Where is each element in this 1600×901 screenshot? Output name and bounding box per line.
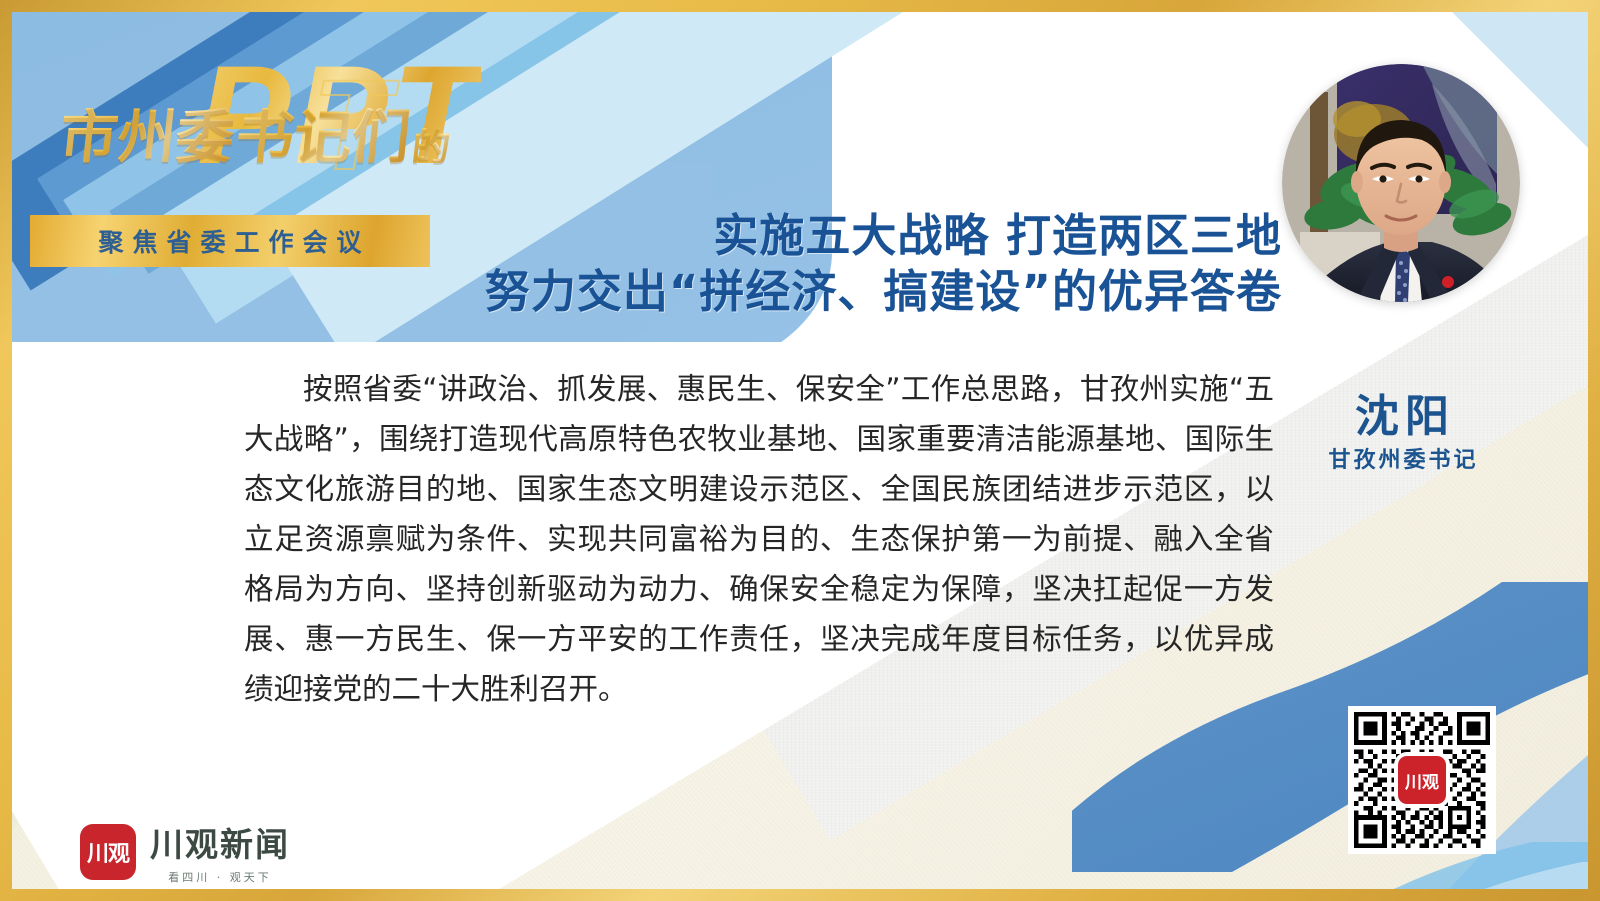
avatar	[1282, 64, 1520, 302]
brand-name: 川观新闻	[150, 818, 290, 866]
series-title-part3: 的	[410, 128, 452, 166]
series-title-part1: 市州委	[57, 108, 237, 166]
poster-inner-card: PPT T 市州委 书记们 的 聚焦省委工作会议 实施五大战略 打造两区三地 努…	[12, 12, 1588, 889]
brand-slogan: 看四川 · 观天下	[150, 869, 290, 885]
poster-canvas: PPT T 市州委 书记们 的 聚焦省委工作会议 实施五大战略 打造两区三地 努…	[0, 0, 1600, 901]
brand-text-group: 川观新闻 看四川 · 观天下	[150, 818, 290, 885]
headline-line-2: 努力交出“拼经济、搞建设”的优异答卷	[412, 264, 1282, 320]
page-title: 实施五大战略 打造两区三地 努力交出“拼经济、搞建设”的优异答卷	[412, 208, 1282, 321]
headline-line-1: 实施五大战略 打造两区三地	[412, 208, 1282, 264]
body-paragraph: 按照省委“讲政治、抓发展、惠民生、保安全”工作总思路，甘孜州实施“五大战略”，围…	[244, 364, 1274, 714]
qr-center-logo: 川观	[1398, 756, 1446, 804]
person-role: 甘孜州委书记	[1280, 442, 1524, 474]
subtitle-ribbon-text: 聚焦省委工作会议	[89, 223, 370, 259]
brand-mark-icon: 川观	[80, 824, 136, 880]
series-title-part2: 书记们	[233, 108, 413, 166]
person-name: 沈阳	[1280, 380, 1524, 444]
subtitle-ribbon: 聚焦省委工作会议	[30, 215, 430, 267]
brand-logo: 川观 川观新闻 看四川 · 观天下	[80, 818, 290, 885]
portrait-photo	[1282, 64, 1520, 302]
series-title: 市州委 书记们 的	[60, 108, 450, 166]
